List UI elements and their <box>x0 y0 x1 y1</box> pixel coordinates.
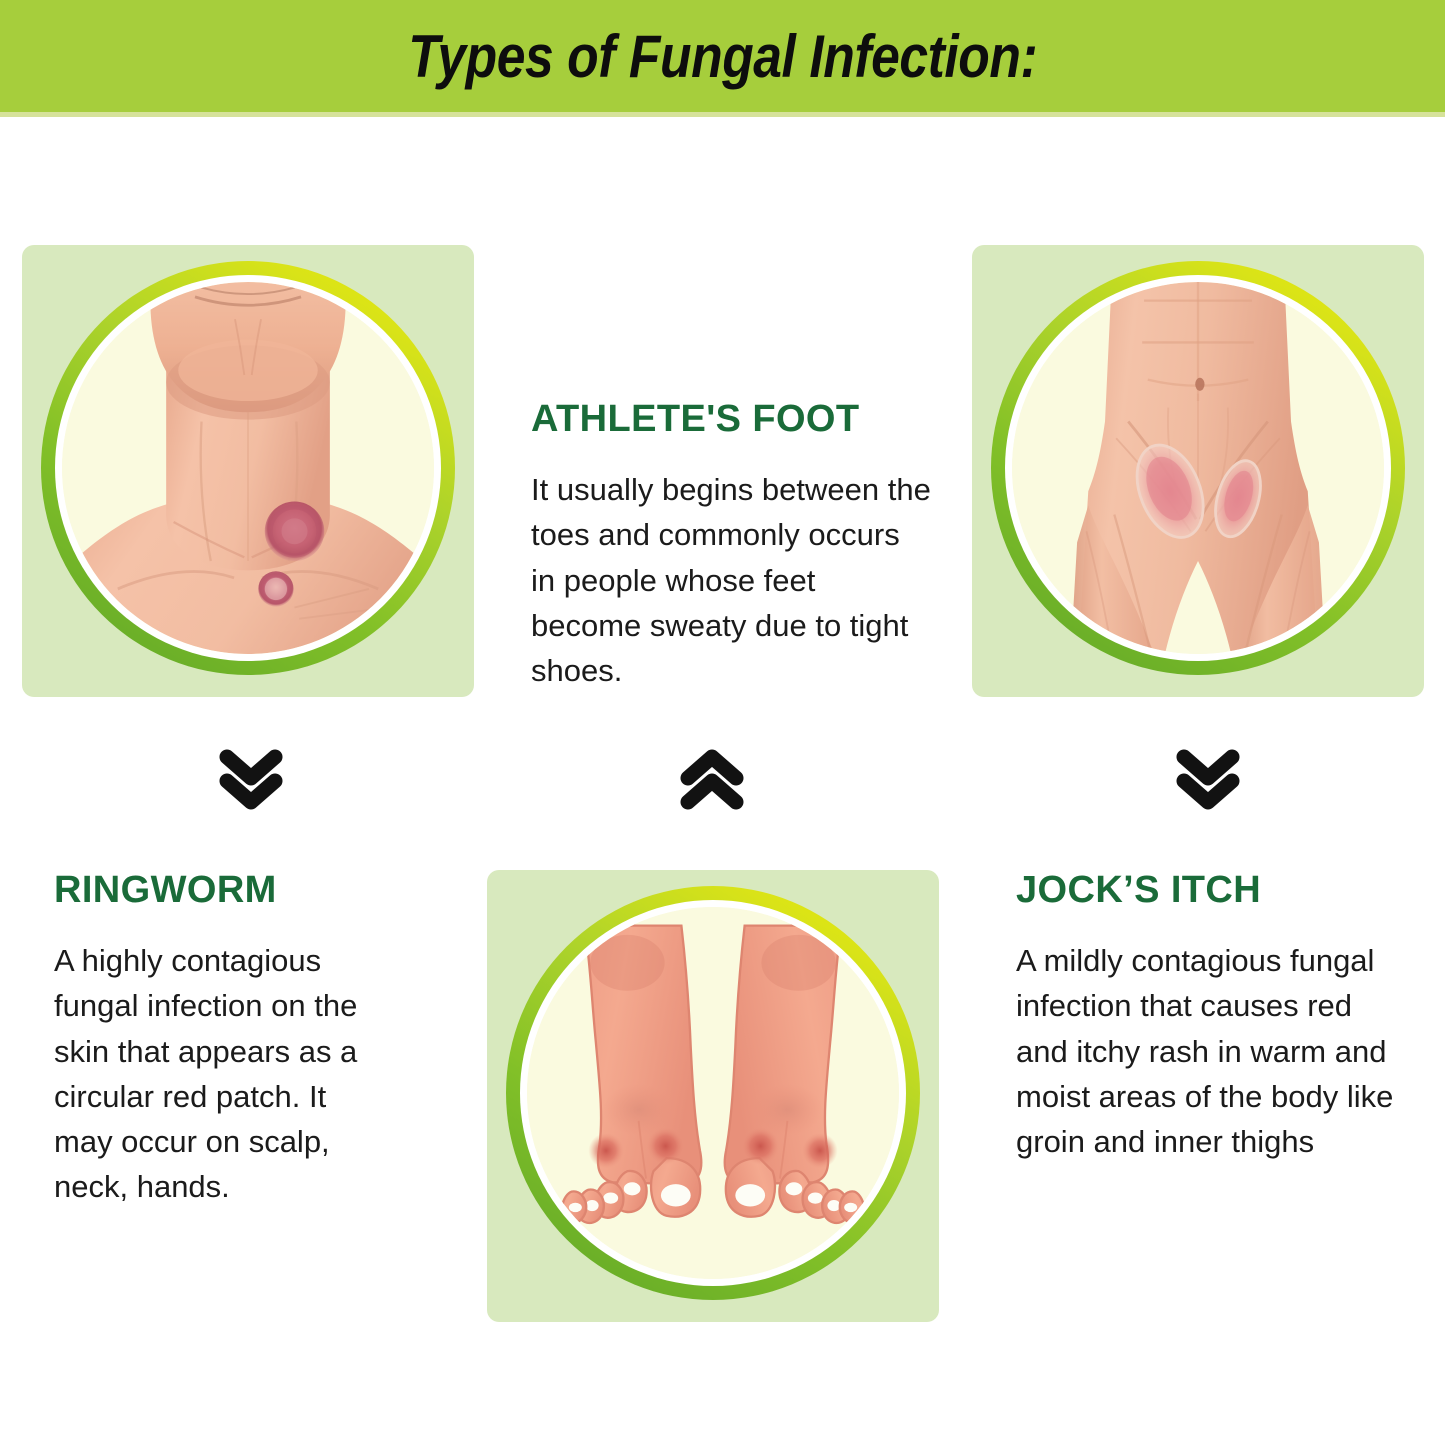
section-body-jocks-itch: A mildly contagious fungal infection tha… <box>1016 938 1396 1164</box>
ring-inner-white <box>1005 275 1391 661</box>
text-block-jocks-itch: JOCK’S ITCH A mildly contagious fungal i… <box>1016 869 1396 1164</box>
text-block-athletes-foot: ATHLETE'S FOOT It usually begins between… <box>531 398 931 693</box>
section-title-athletes-foot: ATHLETE'S FOOT <box>531 398 931 441</box>
neck-illustration <box>62 282 434 654</box>
double-chevron-up-icon <box>676 745 748 815</box>
double-chevron-down-icon <box>215 745 287 815</box>
ring-border <box>991 261 1405 675</box>
section-title-ringworm: RINGWORM <box>54 869 369 912</box>
groin-illustration <box>1012 282 1384 654</box>
ring-border <box>41 261 455 675</box>
page-title: Types of Fungal Infection: <box>408 22 1037 91</box>
illustration-card-athletes-foot <box>487 870 939 1322</box>
section-title-jocks-itch: JOCK’S ITCH <box>1016 869 1396 912</box>
infographic-page: Types of Fungal Infection: <box>0 0 1445 1445</box>
text-block-ringworm: RINGWORM A highly contagious fungal infe… <box>54 869 369 1210</box>
ring-border <box>506 886 920 1300</box>
section-body-ringworm: A highly contagious fungal infection on … <box>54 938 369 1210</box>
header-bar: Types of Fungal Infection: <box>0 0 1445 112</box>
double-chevron-down-icon <box>1172 745 1244 815</box>
ring-inner-white <box>55 275 441 661</box>
illustration-card-ringworm <box>22 245 474 697</box>
ring-inner-white <box>520 900 906 1286</box>
header-underline <box>0 112 1445 117</box>
feet-illustration <box>527 907 899 1279</box>
illustration-card-jocks-itch <box>972 245 1424 697</box>
section-body-athletes-foot: It usually begins between the toes and c… <box>531 467 931 693</box>
